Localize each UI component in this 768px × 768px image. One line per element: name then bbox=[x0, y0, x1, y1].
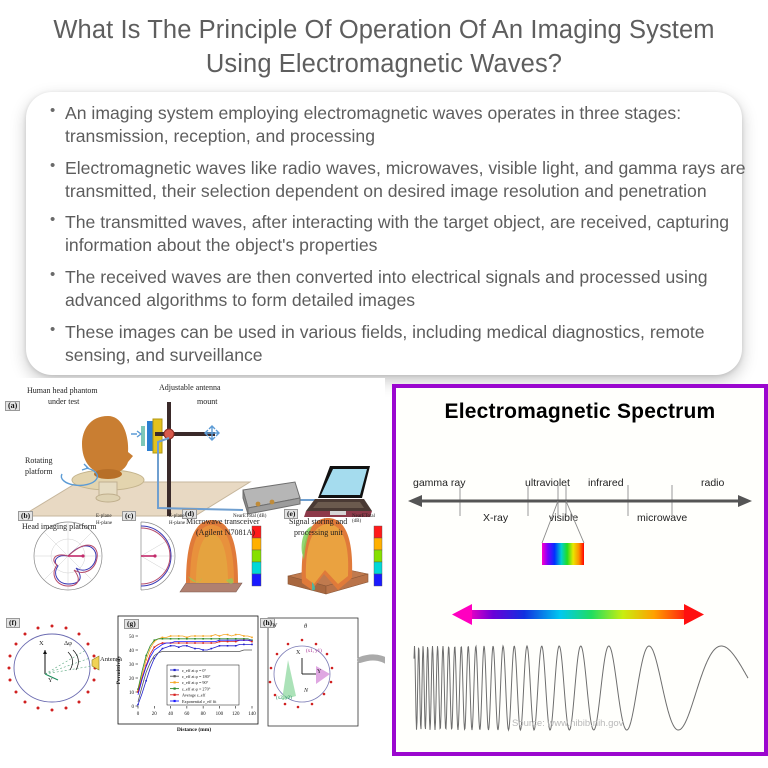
panel-e-colorbar-title: NearETotal (dB) bbox=[352, 514, 385, 524]
svg-text:140: 140 bbox=[248, 712, 256, 717]
label-rotating-1: Rotating bbox=[25, 456, 53, 465]
panel-h-label-coord-2: (x2, y2) bbox=[276, 696, 292, 701]
list-item: These images can be used in various fiel… bbox=[48, 321, 748, 367]
panel-f-label-antenna: Antenna bbox=[100, 656, 122, 663]
label-laptop-2: processing unit bbox=[294, 528, 343, 537]
panel-b-legend-h-plane: H-plane bbox=[96, 521, 112, 526]
panel-h-label-theta: θ bbox=[304, 623, 307, 630]
panel-tag-c: (c) bbox=[122, 511, 136, 521]
panel-f-label-x: X bbox=[39, 640, 44, 647]
panel-tag-g: (g) bbox=[124, 619, 139, 629]
svg-text:120: 120 bbox=[232, 712, 240, 717]
svg-text:100: 100 bbox=[216, 712, 224, 717]
label-head-phantom-2: under test bbox=[48, 397, 79, 406]
panel-h-label-w-top: W bbox=[272, 623, 277, 629]
svg-text:10: 10 bbox=[129, 691, 135, 696]
page-title: What Is The Principle Of Operation Of An… bbox=[0, 14, 768, 81]
svg-text:ε_eff at φ = 0°: ε_eff at φ = 0° bbox=[182, 668, 207, 673]
spectrum-rainbow-arrow bbox=[452, 604, 704, 625]
panel-b-polar-plot bbox=[34, 522, 102, 590]
svg-text:60: 60 bbox=[184, 712, 190, 717]
panel-h-label-coord-1: (x1, y1) bbox=[306, 649, 322, 654]
figure-left-svg: 0204060801001201400102030405060Distance … bbox=[0, 378, 385, 768]
svg-text:40: 40 bbox=[168, 712, 174, 717]
panel-tag-b: (b) bbox=[18, 511, 33, 521]
svg-text:Average ε_eff: Average ε_eff bbox=[182, 693, 206, 698]
panel-e-colorbar bbox=[374, 526, 382, 586]
svg-text:40: 40 bbox=[129, 649, 135, 654]
list-item: The received waves are then converted in… bbox=[48, 266, 748, 312]
svg-text:Distance (mm): Distance (mm) bbox=[177, 726, 212, 733]
panel-f-label-y: Y bbox=[48, 677, 53, 684]
svg-text:80: 80 bbox=[201, 712, 207, 717]
content-card: An imaging system employing electromagne… bbox=[26, 92, 742, 375]
electromagnetic-spectrum-figure: Electromagnetic Spectrum gamma ray ultra… bbox=[392, 384, 768, 756]
spectrum-source-credit: Source: www.nibib.nih.gov bbox=[512, 718, 623, 729]
svg-text:ε_eff at φ = 180°: ε_eff at φ = 180° bbox=[182, 674, 211, 679]
spectrum-svg bbox=[396, 388, 764, 752]
microwave-head-imaging-figure: 0204060801001201400102030405060Distance … bbox=[0, 378, 385, 768]
panel-h-label-n: N bbox=[304, 688, 308, 694]
label-transceiver-2: (Agilent N7081A) bbox=[196, 528, 255, 537]
panel-tag-a: (a) bbox=[5, 401, 20, 411]
list-item: Electromagnetic waves like radio waves, … bbox=[48, 157, 748, 203]
panel-c-legend-e-plane: E-plane bbox=[169, 514, 185, 519]
svg-text:20: 20 bbox=[152, 712, 158, 717]
panel-tag-f: (f) bbox=[6, 618, 20, 628]
svg-text:20: 20 bbox=[129, 677, 135, 682]
label-rotating-2: platform bbox=[25, 467, 53, 476]
list-item: An imaging system employing electromagne… bbox=[48, 102, 748, 148]
panel-tag-e: (e) bbox=[284, 509, 298, 519]
panel-f-label-delta-phi: Δφ bbox=[64, 640, 72, 647]
label-head-phantom-1: Human head phantom bbox=[27, 386, 98, 395]
list-item: The transmitted waves, after interacting… bbox=[48, 211, 748, 257]
label-head-imaging-platform: Head imaging platform bbox=[22, 522, 97, 531]
svg-text:ε_eff at φ = 270°: ε_eff at φ = 270° bbox=[182, 686, 211, 691]
svg-text:30: 30 bbox=[129, 663, 135, 668]
label-antenna-mount-1: Adjustable antenna bbox=[159, 383, 221, 392]
svg-text:ε_eff at φ = 90°: ε_eff at φ = 90° bbox=[182, 680, 209, 685]
panel-h-label-y: Y bbox=[317, 669, 321, 675]
label-antenna-mount-2: mount bbox=[197, 397, 217, 406]
bullet-list: An imaging system employing electromagne… bbox=[48, 102, 748, 376]
panel-d-colorbar-title: NearETotal (dB) bbox=[233, 514, 266, 519]
page-title-line-2: Using Electromagnetic Waves? bbox=[0, 48, 768, 82]
page-title-line-1: What Is The Principle Of Operation Of An… bbox=[0, 14, 768, 48]
page-root: What Is The Principle Of Operation Of An… bbox=[0, 0, 768, 768]
panel-g-permittivity-chart: 0204060801001201400102030405060Distance … bbox=[116, 616, 258, 733]
panel-c-legend-h-plane: H-plane bbox=[169, 521, 185, 526]
svg-text:50: 50 bbox=[129, 635, 135, 640]
svg-text:Exponential ε_eff fit: Exponential ε_eff fit bbox=[182, 699, 217, 704]
panel-h-label-x: X bbox=[296, 650, 300, 656]
panel-b-legend-e-plane: E-plane bbox=[96, 514, 112, 519]
